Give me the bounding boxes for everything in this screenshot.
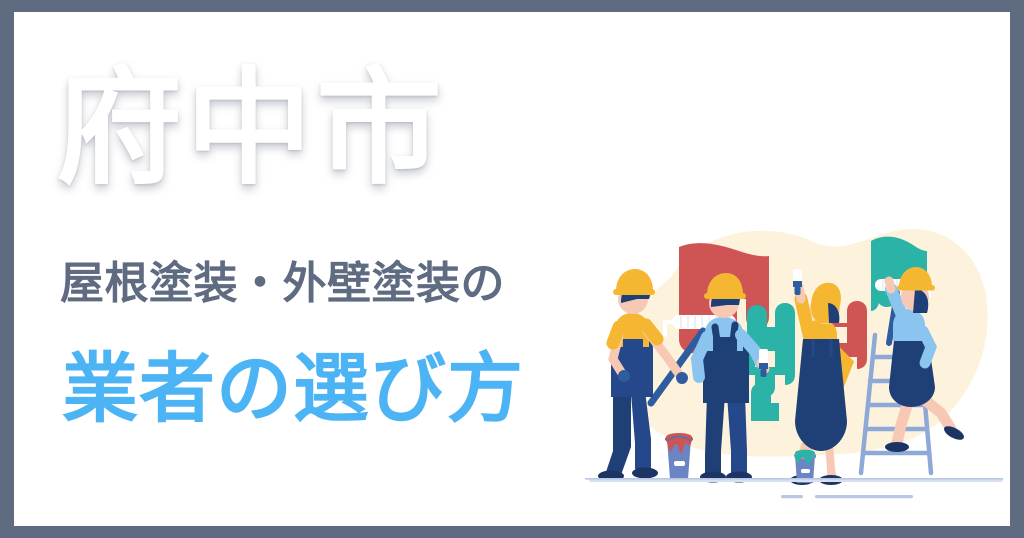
city-title: 府中市 — [56, 58, 446, 199]
ground-dashes — [781, 495, 913, 498]
text-block: 府中市 屋根塗装・外壁塗装の 業者の選び方 — [14, 12, 634, 526]
banner-card: 府中市 屋根塗装・外壁塗装の 業者の選び方 — [14, 12, 1010, 526]
headline-text: 業者の選び方 — [62, 346, 524, 433]
banner-root: 府中市 屋根塗装・外壁塗装の 業者の選び方 — [0, 0, 1024, 538]
subtitle-text: 屋根塗装・外壁塗装の — [60, 258, 505, 311]
teal-paint-bucket — [794, 450, 816, 483]
red-paint-bucket — [665, 433, 693, 479]
ground-line — [585, 478, 1003, 482]
painters-illustration — [579, 207, 1010, 507]
